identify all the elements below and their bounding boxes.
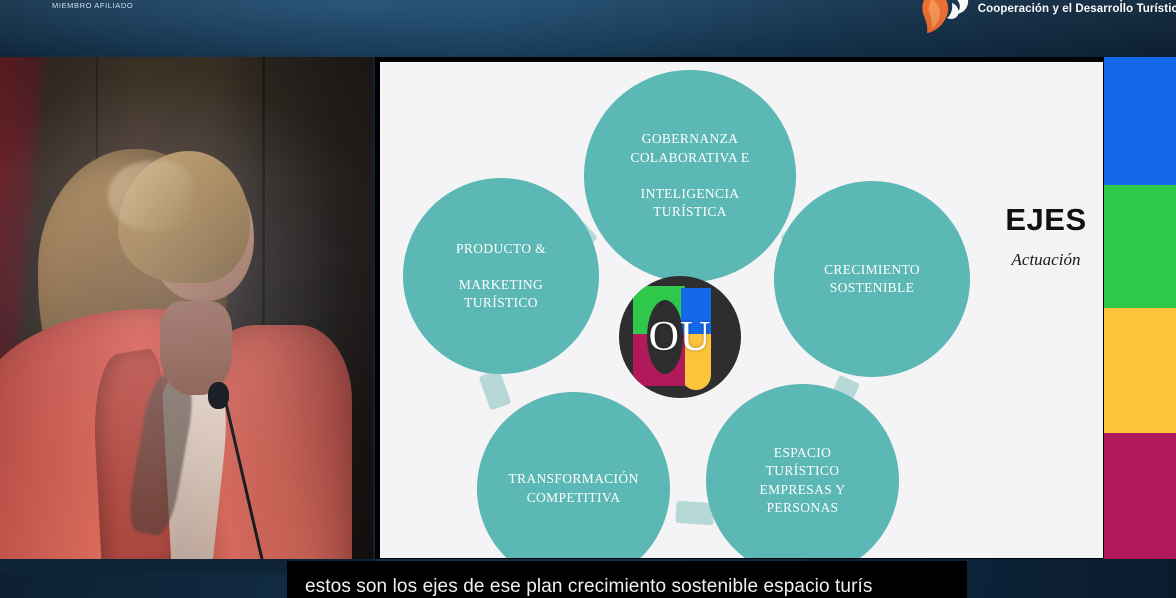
node-crecimiento-sostenible[interactable]: CRECIMIENTO SOSTENIBLE bbox=[774, 181, 970, 377]
video-stage-light bbox=[0, 57, 373, 559]
magenta-bar bbox=[1104, 433, 1176, 559]
node-transformacion-competitiva[interactable]: TRANSFORMACIÓN COMPETITIVA bbox=[477, 392, 670, 558]
node-gobernanza[interactable]: GOBERNANZA COLABORATIVA E INTELIGENCIA T… bbox=[584, 70, 796, 282]
speaker-video-panel bbox=[0, 57, 373, 559]
page-subtitle: Actuación bbox=[992, 250, 1100, 270]
brand-text: Asociación Internacional para Cooperació… bbox=[978, 0, 1176, 35]
presentation-slide-frame: GOBERNANZA COLABORATIVA E INTELIGENCIA T… bbox=[375, 57, 1104, 559]
blue-bar bbox=[1104, 57, 1176, 185]
node-producto-label: PRODUCTO & MARKETING TURÍSTICO bbox=[442, 240, 560, 313]
ejes-text-block: EJES Actuación bbox=[992, 202, 1100, 270]
hand-flame-swoosh-logo-icon bbox=[916, 0, 972, 35]
node-espacio-turistico[interactable]: ESPACIO TURÍSTICO EMPRESAS Y PERSONAS bbox=[706, 384, 899, 558]
green-bar bbox=[1104, 185, 1176, 308]
caption-text: estos son los ejes de ese plan crecimien… bbox=[305, 576, 955, 598]
presentation-slide: GOBERNANZA COLABORATIVA E INTELIGENCIA T… bbox=[380, 62, 1103, 558]
ejes-circle-diagram: GOBERNANZA COLABORATIVA E INTELIGENCIA T… bbox=[380, 62, 1103, 558]
header-band: MIEMBRO AFILIADO Asociación Internaciona… bbox=[0, 0, 1176, 57]
node-transformacion-label: TRANSFORMACIÓN COMPETITIVA bbox=[494, 470, 652, 506]
center-brand-logo-icon: OU bbox=[619, 276, 741, 398]
brand-line-2: Cooperación y el Desarrollo Turístic bbox=[978, 3, 1176, 15]
connector-producto-transformacion bbox=[479, 369, 512, 410]
yellow-bar bbox=[1104, 308, 1176, 433]
brand-logo: Asociación Internacional para Cooperació… bbox=[916, 0, 1176, 35]
screen: MIEMBRO AFILIADO Asociación Internaciona… bbox=[0, 0, 1176, 598]
node-producto-marketing[interactable]: PRODUCTO & MARKETING TURÍSTICO bbox=[403, 178, 599, 374]
node-gobernanza-label: GOBERNANZA COLABORATIVA E INTELIGENCIA T… bbox=[616, 130, 763, 221]
color-bar-strip bbox=[1104, 57, 1176, 559]
node-espacio-label: ESPACIO TURÍSTICO EMPRESAS Y PERSONAS bbox=[746, 444, 860, 517]
logo-letters: OU bbox=[619, 276, 741, 398]
affiliate-label: MIEMBRO AFILIADO bbox=[52, 1, 133, 10]
node-crecimiento-label: CRECIMIENTO SOSTENIBLE bbox=[810, 261, 934, 297]
page-title: EJES bbox=[992, 202, 1100, 238]
